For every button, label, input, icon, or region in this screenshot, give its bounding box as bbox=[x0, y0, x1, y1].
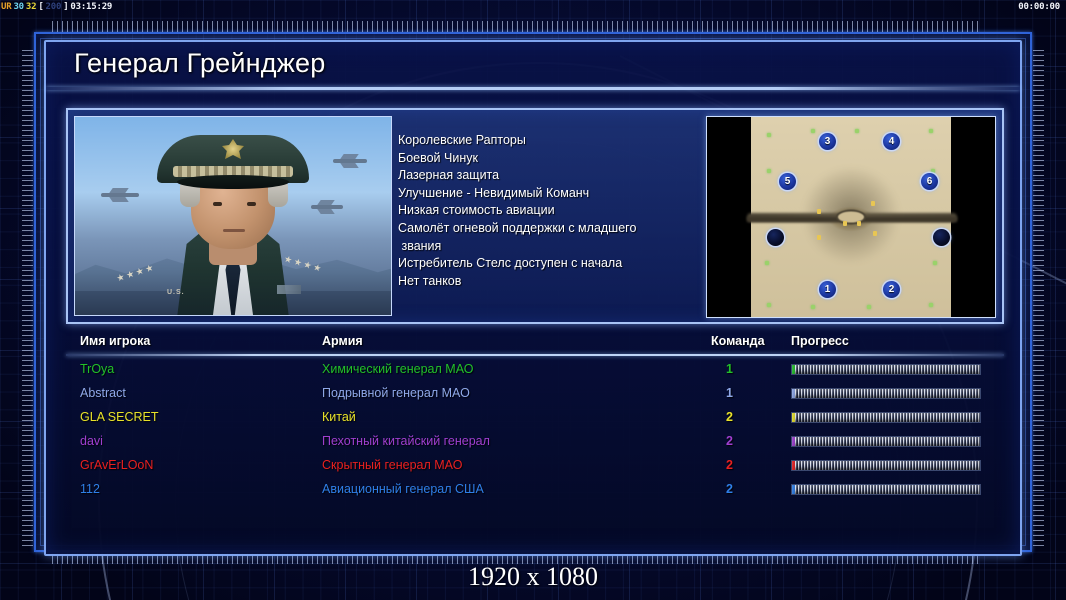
feature-item: Самолёт огневой поддержки с младшего bbox=[398, 220, 698, 238]
general-mouth bbox=[223, 229, 245, 232]
supply-dock-icon bbox=[933, 261, 937, 265]
column-header-progress: Прогресс bbox=[791, 334, 849, 348]
general-cap-brim bbox=[177, 175, 289, 189]
feature-item: Истребитель Стелс доступен с начала bbox=[398, 255, 698, 273]
feature-item: Лазерная защита bbox=[398, 167, 698, 185]
progress-bar bbox=[791, 412, 981, 423]
player-team: 2 bbox=[726, 410, 733, 424]
player-army: Скрытный генерал МАО bbox=[322, 458, 462, 472]
progress-bar-leading-edge bbox=[792, 437, 795, 446]
general-feature-list: Королевские РапторыБоевой ЧинукЛазерная … bbox=[398, 132, 698, 290]
feature-item: Низкая стоимость авиации bbox=[398, 202, 698, 220]
game-lobby-screen: UR3032[200]03:15:29 00:00:00 Генерал Гре… bbox=[0, 0, 1066, 600]
player-army: Пехотный китайский генерал bbox=[322, 434, 490, 448]
progress-bar-fill bbox=[792, 437, 980, 446]
start-position-marker[interactable]: 3 bbox=[819, 133, 836, 150]
main-window: Генерал Грейнджер bbox=[44, 40, 1022, 556]
player-table: Имя игрока Армия Команда Прогресс TrOyaХ… bbox=[66, 334, 1004, 538]
supply-dock-icon bbox=[855, 129, 859, 133]
oil-derrick-icon bbox=[857, 221, 861, 226]
ruler-top-icon bbox=[52, 21, 982, 32]
table-body: TrOyaХимический генерал МАО1AbstractПодр… bbox=[66, 360, 1004, 504]
player-name: TrOya bbox=[80, 362, 114, 376]
map-terrain: 345612 bbox=[751, 117, 951, 317]
player-name: GrAvErLOoN bbox=[80, 458, 153, 472]
status-value-2: 32 bbox=[25, 0, 37, 14]
status-bracket-open: [ bbox=[37, 0, 44, 14]
supply-dock-icon bbox=[767, 169, 771, 173]
progress-bar bbox=[791, 436, 981, 447]
progress-bar-leading-edge bbox=[792, 389, 795, 398]
player-name: GLA SECRET bbox=[80, 410, 159, 424]
oil-derrick-icon bbox=[817, 209, 821, 214]
progress-bar-fill bbox=[792, 485, 980, 494]
start-position-marker[interactable] bbox=[767, 229, 784, 246]
progress-bar-fill bbox=[792, 461, 980, 470]
player-team: 2 bbox=[726, 458, 733, 472]
uniform-nameplate bbox=[277, 285, 301, 294]
player-team: 1 bbox=[726, 386, 733, 400]
feature-item: Нет танков bbox=[398, 273, 698, 291]
oil-derrick-icon bbox=[873, 231, 877, 236]
progress-bar-leading-edge bbox=[792, 461, 795, 470]
oil-derrick-icon bbox=[871, 201, 875, 206]
title-divider bbox=[46, 87, 1020, 90]
progress-bar bbox=[791, 364, 981, 375]
player-army: Китай bbox=[322, 410, 356, 424]
table-header-divider bbox=[66, 354, 1004, 356]
progress-bar-fill bbox=[792, 365, 980, 374]
supply-dock-icon bbox=[929, 129, 933, 133]
progress-bar-fill bbox=[792, 413, 980, 422]
uniform-us-label: U.S. bbox=[167, 289, 185, 296]
player-army: Химический генерал МАО bbox=[322, 362, 473, 376]
jet-aircraft-icon bbox=[333, 159, 367, 163]
status-clock: 03:15:29 bbox=[69, 0, 113, 14]
player-team: 2 bbox=[726, 434, 733, 448]
feature-item: Королевские Рапторы bbox=[398, 132, 698, 150]
player-name: Abstract bbox=[80, 386, 126, 400]
column-header-army: Армия bbox=[322, 334, 363, 348]
player-team: 1 bbox=[726, 362, 733, 376]
match-timer: 00:00:00 bbox=[1018, 0, 1060, 14]
general-info-panel: ★★★★ ★★★★ U.S. Королевские РапторыБоевой… bbox=[66, 108, 1004, 324]
general-portrait: ★★★★ ★★★★ U.S. bbox=[74, 116, 392, 316]
table-row[interactable]: GLA SECRETКитай2 bbox=[66, 408, 1004, 432]
table-row[interactable]: GrAvErLOoNСкрытный генерал МАО2 bbox=[66, 456, 1004, 480]
table-row[interactable]: 112Авиационный генерал США2 bbox=[66, 480, 1004, 504]
supply-dock-icon bbox=[767, 133, 771, 137]
general-eye-left bbox=[213, 202, 222, 206]
player-name: davi bbox=[80, 434, 103, 448]
feature-item: звания bbox=[398, 238, 698, 256]
progress-bar bbox=[791, 388, 981, 399]
progress-bar-leading-edge bbox=[792, 485, 795, 494]
progress-bar-fill bbox=[792, 389, 980, 398]
supply-dock-icon bbox=[765, 261, 769, 265]
oil-derrick-icon bbox=[817, 235, 821, 240]
title-bar: Генерал Грейнджер bbox=[46, 42, 1020, 90]
general-eye-right bbox=[247, 202, 256, 206]
ruler-left-icon bbox=[22, 50, 33, 550]
jet-aircraft-icon bbox=[311, 205, 343, 209]
player-army: Авиационный генерал США bbox=[322, 482, 484, 496]
start-position-marker[interactable] bbox=[933, 229, 950, 246]
map-center-feature bbox=[836, 210, 866, 225]
feature-item: Боевой Чинук bbox=[398, 150, 698, 168]
progress-bar bbox=[791, 484, 981, 495]
progress-bar-leading-edge bbox=[792, 365, 795, 374]
column-header-team: Команда bbox=[711, 334, 765, 348]
start-position-marker[interactable]: 4 bbox=[883, 133, 900, 150]
status-bracket-close: ] bbox=[62, 0, 69, 14]
table-row[interactable]: TrOyaХимический генерал МАО1 bbox=[66, 360, 1004, 384]
ruler-right-icon bbox=[1033, 50, 1044, 550]
feature-item: Улучшение - Невидимый Команч bbox=[398, 185, 698, 203]
supply-dock-icon bbox=[767, 303, 771, 307]
map-preview[interactable]: 345612 bbox=[706, 116, 996, 318]
oil-derrick-icon bbox=[843, 221, 847, 226]
status-tag: UR bbox=[0, 0, 12, 14]
table-row[interactable]: daviПехотный китайский генерал2 bbox=[66, 432, 1004, 456]
jet-aircraft-icon bbox=[101, 193, 139, 197]
supply-dock-icon bbox=[811, 305, 815, 309]
resolution-caption: 1920 x 1080 bbox=[0, 562, 1066, 592]
start-position-marker[interactable]: 1 bbox=[819, 281, 836, 298]
supply-dock-icon bbox=[929, 303, 933, 307]
status-value-3: 200 bbox=[45, 0, 63, 14]
progress-bar-leading-edge bbox=[792, 413, 795, 422]
start-position-marker[interactable]: 5 bbox=[779, 173, 796, 190]
progress-bar bbox=[791, 460, 981, 471]
supply-dock-icon bbox=[811, 129, 815, 133]
start-position-marker[interactable]: 6 bbox=[921, 173, 938, 190]
player-team: 2 bbox=[726, 482, 733, 496]
page-title: Генерал Грейнджер bbox=[74, 48, 325, 79]
supply-dock-icon bbox=[867, 305, 871, 309]
player-army: Подрывной генерал МАО bbox=[322, 386, 470, 400]
player-name: 112 bbox=[80, 482, 100, 496]
table-header-row: Имя игрока Армия Команда Прогресс bbox=[66, 334, 1004, 356]
column-header-player-name: Имя игрока bbox=[80, 334, 150, 348]
table-row[interactable]: AbstractПодрывной генерал МАО1 bbox=[66, 384, 1004, 408]
top-status-bar: UR3032[200]03:15:29 00:00:00 bbox=[0, 0, 1066, 14]
start-position-marker[interactable]: 2 bbox=[883, 281, 900, 298]
status-value-1: 30 bbox=[12, 0, 24, 14]
